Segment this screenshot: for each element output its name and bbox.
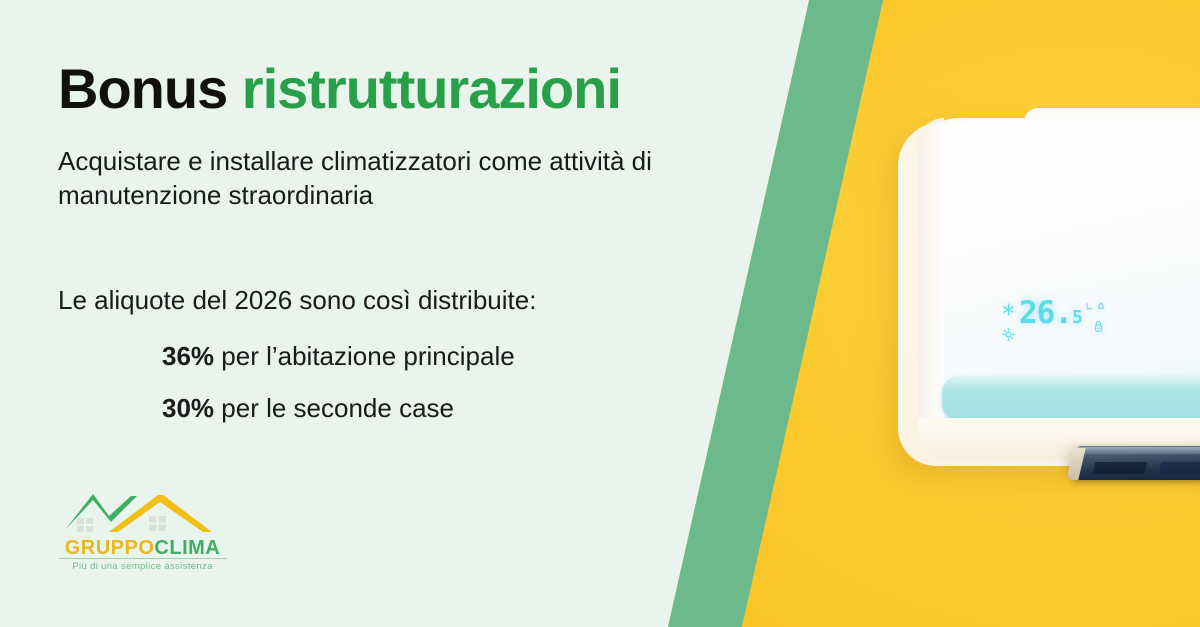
rates-intro-text: Le aliquote del 2026 sono così distribui… [58,285,536,316]
logo-word-gruppo: GRUPPO [65,537,155,559]
rate-percent-second: 30% [162,393,214,423]
display-mode-icons [1000,303,1017,341]
logo-divider [59,558,227,559]
ac-intake-gloss [942,376,1200,388]
rate-label-second: per le seconde case [221,393,454,423]
ac-left-lip [918,118,944,456]
headline-word-ristrutturazioni: ristrutturazioni [242,57,621,120]
ac-deflector-highlight [1075,447,1200,454]
logo-tagline: Più di una semplice assistenza [55,561,230,572]
sun-icon [1002,328,1015,341]
logo-word-clima: CLIMA [154,537,220,559]
page-title: Bonus ristrutturazioni [58,60,621,119]
rate-percent-primary: 36% [162,341,214,371]
air-conditioner-unit [898,118,1200,470]
house-roofs-icon [63,488,223,540]
temperature-integer: 26. [1019,295,1072,331]
ac-deflector-slot-left [1093,462,1148,474]
promo-banner: 26.5 Bonus ristrutturazioni Acquistare e… [0,0,1200,627]
rate-item-primary-residence: 36% per l’abitazione principale [162,341,515,372]
headline-word-bonus: Bonus [58,57,227,120]
droplet-icon [1096,301,1106,311]
rate-item-second-home: 30% per le seconde case [162,393,454,424]
rate-label-primary: per l’abitazione principale [221,341,514,371]
ac-led-display: 26.5 [1000,300,1104,344]
product-photo-panel [640,0,1200,627]
temperature-decimal: 5 [1072,307,1082,328]
company-logo[interactable]: GRUPPOCLIMA Più di una semplice assisten… [55,488,230,580]
snowflake-icon [1002,303,1015,316]
timer-icon [1085,302,1094,311]
display-status-icons [1085,302,1105,340]
subtitle: Acquistare e installare climatizzatori c… [58,145,678,213]
ac-deflector-slot-right [1159,462,1200,474]
lock-icon [1093,320,1104,333]
display-temperature-readout: 26.5 [1019,298,1082,329]
logo-wordmark: GRUPPOCLIMA [55,538,230,558]
